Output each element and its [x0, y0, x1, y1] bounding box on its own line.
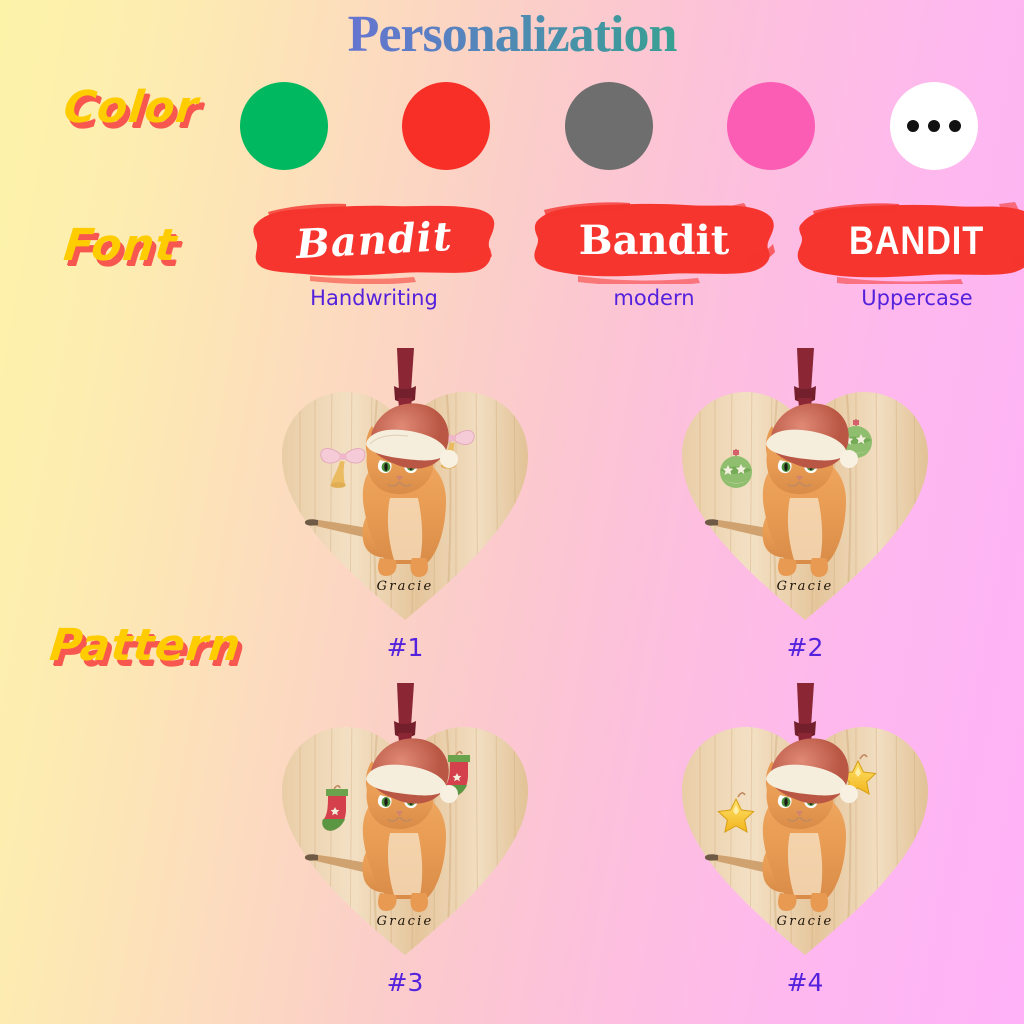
font-option-modern[interactable]: Bandit modern — [530, 198, 778, 320]
font-sample-uppercase: BANDIT — [849, 221, 984, 261]
section-label-color: Color — [61, 82, 201, 133]
ellipsis-dot-icon — [907, 120, 919, 132]
font-caption-uppercase: Uppercase — [793, 286, 1024, 310]
font-caption-modern: modern — [530, 286, 778, 310]
section-label-font: Font — [61, 220, 180, 271]
font-sample-modern: Bandit — [579, 221, 729, 261]
brush-stroke-icon: BANDIT — [793, 198, 1024, 284]
pattern-caption-1: #1 — [260, 633, 550, 662]
pet-name-text: Gracie — [777, 914, 834, 929]
color-swatch-red[interactable] — [402, 82, 490, 170]
ellipsis-dot-icon — [949, 120, 961, 132]
section-label-pattern: Pattern — [47, 620, 243, 671]
font-sample-modern-wrap: Bandit — [530, 198, 778, 284]
pet-name-text: Gracie — [777, 579, 834, 594]
heart-ornament-2: Gracie — [660, 330, 950, 635]
font-option-row: Bandit Handwriting Bandit modern — [240, 198, 1024, 320]
pattern-option-2[interactable]: Gracie #2 — [660, 330, 950, 670]
font-sample-uppercase-wrap: BANDIT — [793, 198, 1024, 284]
brush-stroke-icon: Bandit — [250, 198, 498, 284]
heart-ornament-1: Gracie — [260, 330, 550, 635]
color-swatch-pink[interactable] — [727, 82, 815, 170]
font-sample-handwriting-wrap: Bandit — [250, 198, 498, 284]
color-swatch-more-options[interactable] — [890, 82, 978, 170]
color-swatch-gray[interactable] — [565, 82, 653, 170]
font-caption-handwriting: Handwriting — [250, 286, 498, 310]
pet-name-text: Gracie — [377, 579, 434, 594]
font-sample-handwriting: Bandit — [295, 217, 453, 265]
heart-ornament-4: Gracie — [660, 665, 950, 970]
color-swatch-row — [240, 82, 1000, 174]
page-title: Personalization — [0, 8, 1024, 63]
pattern-option-1[interactable]: Gracie #1 — [260, 330, 550, 670]
pet-name-text: Gracie — [377, 914, 434, 929]
pattern-caption-2: #2 — [660, 633, 950, 662]
ellipsis-dot-icon — [928, 120, 940, 132]
pattern-option-3[interactable]: Gracie #3 — [260, 665, 550, 1005]
pattern-caption-4: #4 — [660, 968, 950, 997]
pattern-option-grid: Gracie #1 — [250, 330, 1024, 1020]
pattern-caption-3: #3 — [260, 968, 550, 997]
heart-ornament-3: Gracie — [260, 665, 550, 970]
color-swatch-green[interactable] — [240, 82, 328, 170]
pattern-option-4[interactable]: Gracie #4 — [660, 665, 950, 1005]
font-option-uppercase[interactable]: BANDIT Uppercase — [793, 198, 1024, 320]
brush-stroke-icon: Bandit — [530, 198, 778, 284]
font-option-handwriting[interactable]: Bandit Handwriting — [250, 198, 498, 320]
